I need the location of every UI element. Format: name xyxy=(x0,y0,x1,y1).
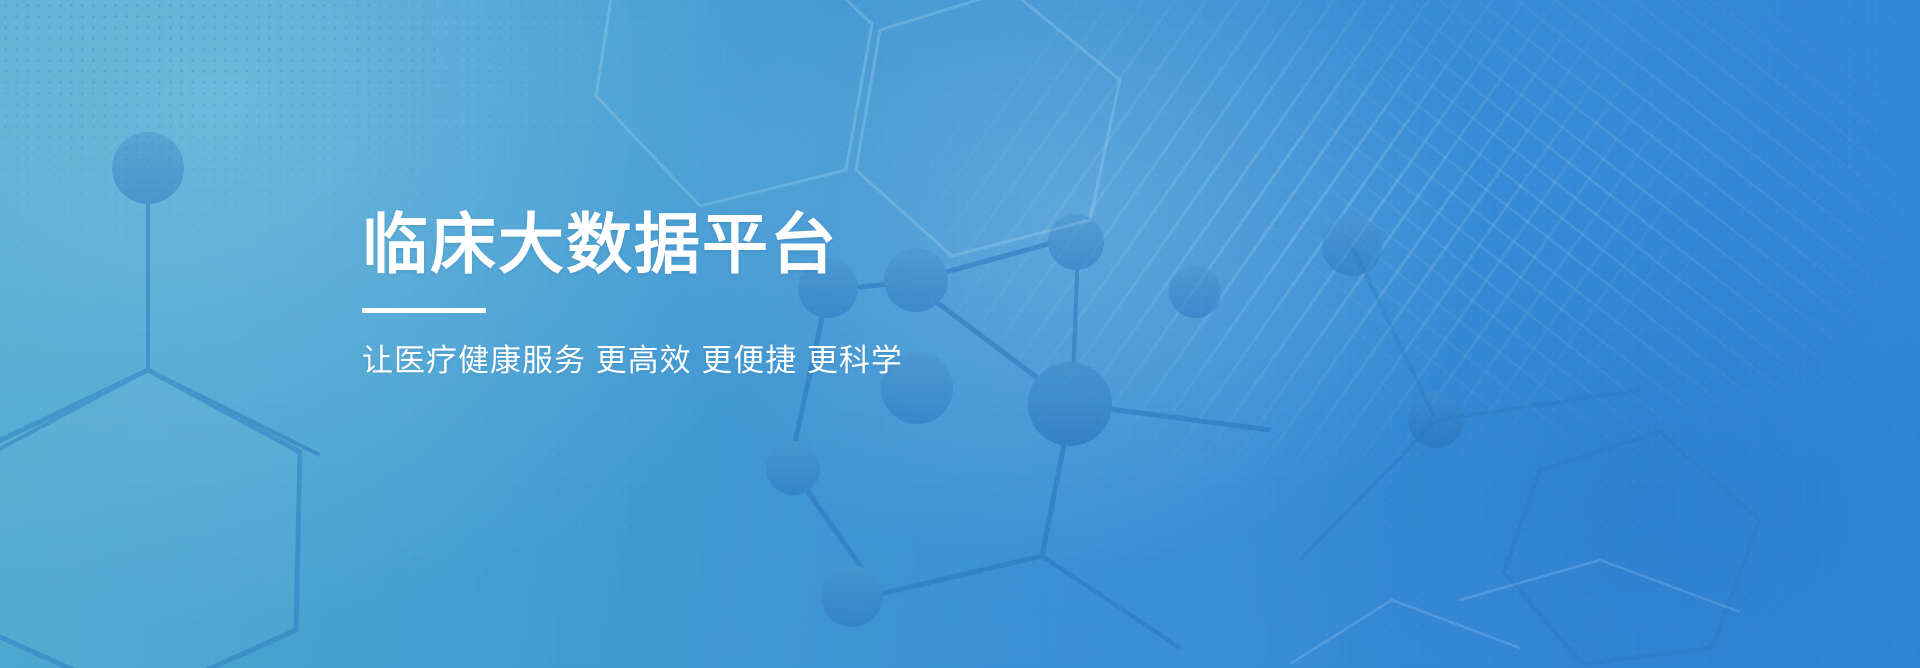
page-subtitle: 让医疗健康服务 更高效 更便捷 更科学 xyxy=(362,341,1362,381)
title-divider xyxy=(362,308,486,313)
molecule-lines-far-right-icon xyxy=(1300,246,1760,664)
page-title: 临床大数据平台 xyxy=(362,208,1362,282)
wire-lines-bottom-right-icon xyxy=(1290,560,1740,664)
banner-copy-block: 临床大数据平台 让医疗健康服务 更高效 更便捷 更科学 xyxy=(362,208,1362,381)
molecule-cluster-left-icon xyxy=(0,132,320,668)
hero-banner: 临床大数据平台 让医疗健康服务 更高效 更便捷 更科学 xyxy=(0,0,1920,668)
